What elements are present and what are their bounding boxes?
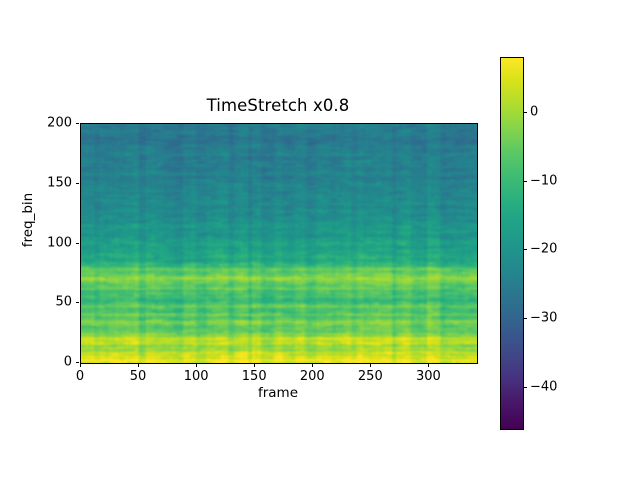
y-tick-label: 100: [36, 235, 72, 250]
colorbar-tick-label: −30: [530, 311, 557, 326]
x-tick-mark: [254, 363, 255, 367]
y-tick-mark: [76, 243, 80, 244]
page-title: TimeStretch x0.8: [80, 96, 476, 115]
x-tick-mark: [138, 363, 139, 367]
y-tick-label: 0: [36, 355, 72, 370]
y-tick-label: 50: [36, 295, 72, 310]
x-axis-label: frame: [80, 385, 476, 401]
x-tick-mark: [370, 363, 371, 367]
x-tick-mark: [196, 363, 197, 367]
y-tick-label: 150: [36, 175, 72, 190]
colorbar-tick-mark: [523, 181, 527, 182]
x-tick-label: 150: [242, 369, 267, 384]
colorbar-tick-label: −40: [530, 379, 557, 394]
y-tick-mark: [76, 123, 80, 124]
x-tick-label: 100: [184, 369, 209, 384]
colorbar-tick-label: 0: [530, 104, 538, 119]
x-tick-mark: [80, 363, 81, 367]
y-tick-mark: [76, 362, 80, 363]
y-tick-mark: [76, 183, 80, 184]
y-tick-label: 200: [36, 116, 72, 131]
y-axis-label: freq_bin: [20, 160, 36, 280]
y-tick-mark: [76, 302, 80, 303]
x-tick-label: 250: [358, 369, 383, 384]
x-tick-label: 0: [76, 369, 84, 384]
x-tick-label: 300: [416, 369, 441, 384]
matplotlib-figure: TimeStretch x0.8 frame freq_bin 05010015…: [0, 0, 640, 480]
x-tick-label: 50: [130, 369, 147, 384]
x-tick-mark: [312, 363, 313, 367]
x-tick-mark: [428, 363, 429, 367]
colorbar-tick-mark: [523, 249, 527, 250]
colorbar-tick-label: −10: [530, 173, 557, 188]
colorbar-tick-mark: [523, 387, 527, 388]
spectrogram-image: [81, 124, 477, 363]
colorbar-tick-mark: [523, 318, 527, 319]
colorbar-tick-label: −20: [530, 242, 557, 257]
x-tick-label: 200: [300, 369, 325, 384]
colorbar-tick-mark: [523, 112, 527, 113]
spectrogram-axes: [80, 123, 478, 364]
colorbar: [500, 57, 524, 430]
